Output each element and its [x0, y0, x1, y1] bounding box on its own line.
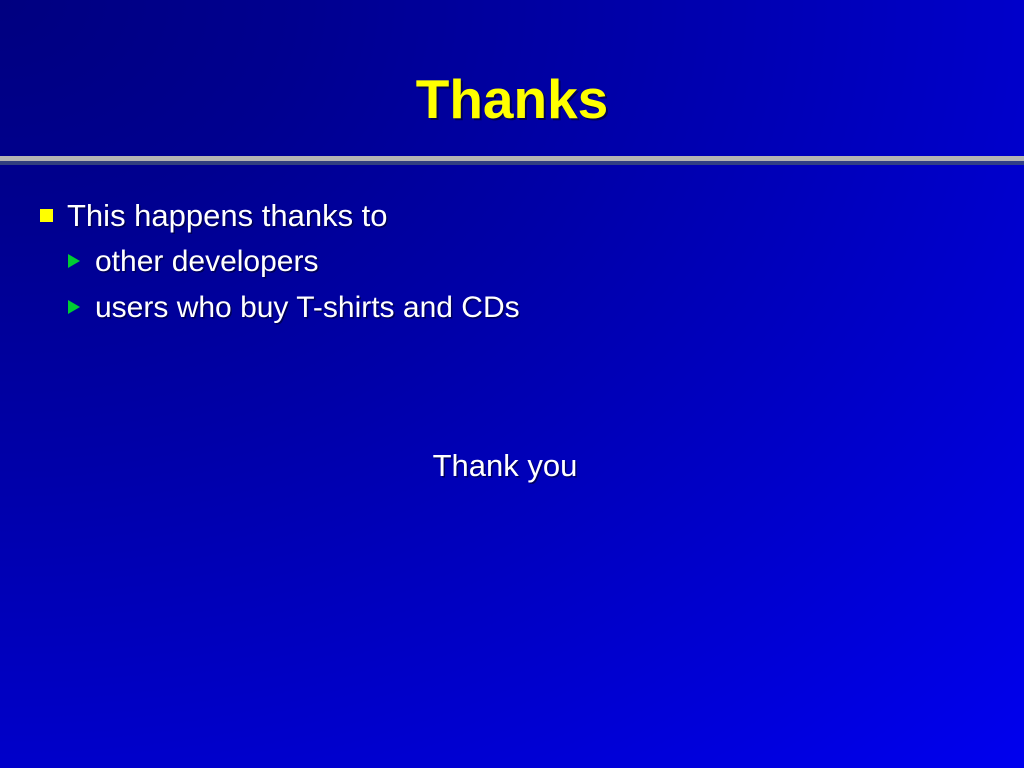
- closing-note-area: Thank you: [0, 446, 1024, 486]
- slide-title-area: Thanks: [0, 68, 1024, 130]
- presentation-slide: Thanks This happens thanks to other deve…: [0, 0, 1024, 768]
- list-item: other developers: [0, 242, 1024, 288]
- list-item-label: other developers: [95, 242, 318, 282]
- square-bullet-icon: [40, 209, 53, 222]
- title-divider-shadow: [0, 161, 1024, 165]
- list-item-label: This happens thanks to: [67, 196, 388, 236]
- list-item: This happens thanks to: [0, 196, 1024, 242]
- list-item-label: users who buy T-shirts and CDs: [95, 288, 520, 328]
- closing-note: Thank you: [433, 446, 578, 486]
- slide-body: This happens thanks to other developers …: [0, 196, 1024, 334]
- triangle-bullet-icon: [68, 300, 80, 314]
- triangle-bullet-icon: [68, 254, 80, 268]
- page-title: Thanks: [416, 68, 609, 130]
- list-item: users who buy T-shirts and CDs: [0, 288, 1024, 334]
